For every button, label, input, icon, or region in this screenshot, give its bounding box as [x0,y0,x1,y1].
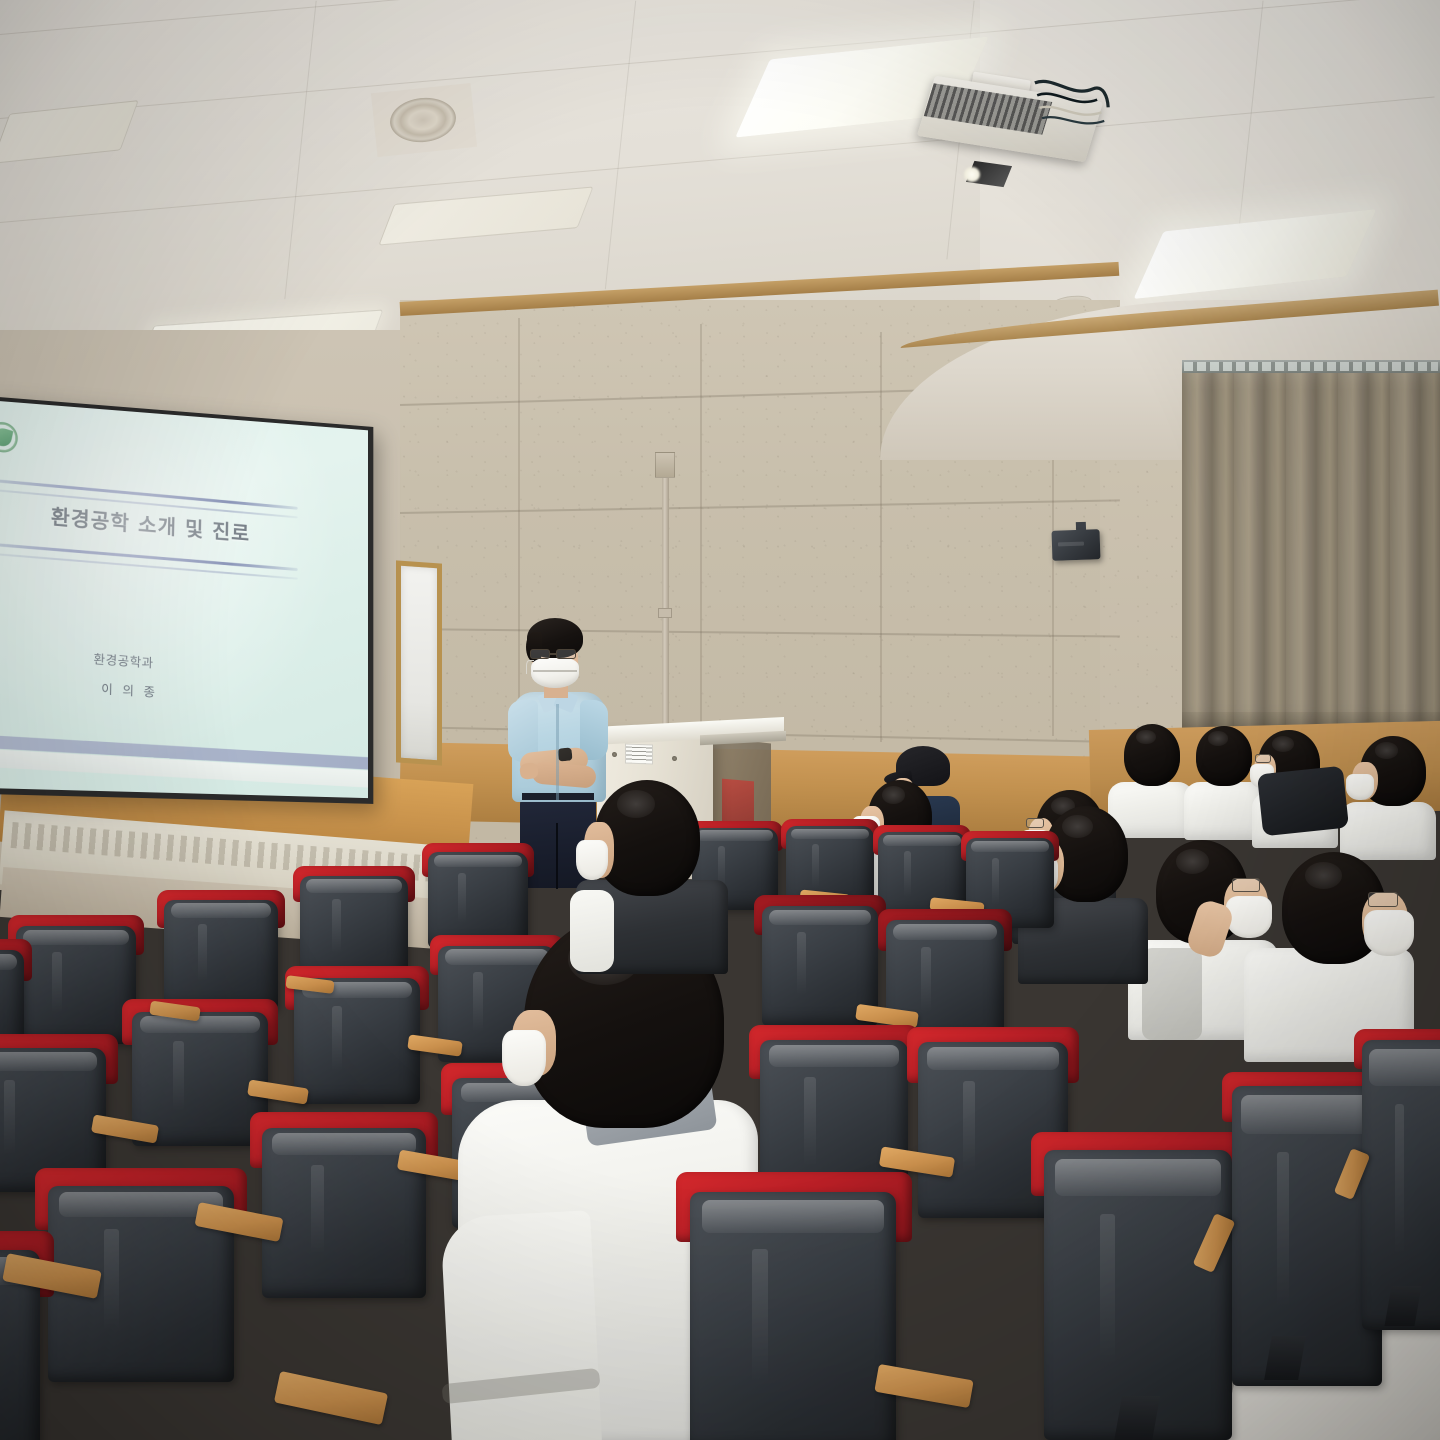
auditorium-photo: 학교 U UNIVERSITY 환경공학 소개 및 진로 환경공학과 이 의 종 [0,0,1440,1440]
podium-label-text [626,747,653,764]
projector-lens-glow [964,167,980,182]
conduit-junction-box [655,452,675,478]
student-sleeve [440,1210,602,1440]
auditorium-seat[interactable] [690,1192,896,1440]
slide-department: 환경공학과 [93,649,281,680]
podium-label [625,744,653,765]
curtain-fabric[interactable] [1182,372,1440,750]
face-mask-strap [526,660,534,674]
wall-panel-seam [700,324,702,742]
eyeglasses-icon [1255,754,1271,763]
podium-screw [672,756,677,761]
face-mask-icon [502,1030,546,1086]
lecturer-wristwatch [557,747,572,761]
wall-panel-seam [880,332,882,742]
student-front-left [570,780,730,970]
projector-cables [1026,73,1113,140]
face-mask-icon [576,840,608,880]
auditorium-seat[interactable] [300,876,408,980]
student-shirt-shadow [1142,948,1202,1040]
window-curtain[interactable] [1182,360,1440,750]
student-shirt-sleeve [570,890,614,972]
eyeglasses-icon [1368,892,1398,907]
auditorium-seat[interactable] [16,926,136,1044]
projection-screen-frame: 학교 U UNIVERSITY 환경공학 소개 및 진로 환경공학과 이 의 종 [0,396,373,804]
eyeglasses-icon [530,649,580,659]
eyeglass-lens-left [530,649,550,659]
face-mask-icon [531,658,579,688]
auditorium-seat[interactable] [164,900,278,1010]
backpack [1257,766,1349,837]
eyeglass-lens-right [556,649,576,659]
projection-screen[interactable]: 학교 U UNIVERSITY 환경공학 소개 및 진로 환경공학과 이 의 종 [0,400,368,798]
lecturer-shirt-placket [556,704,559,800]
student-head [1124,724,1180,786]
seat-armrest [274,1371,388,1425]
lecturer-leg-seam [556,823,558,889]
face-mask-fold [533,670,577,672]
eyeglass-bridge [550,653,556,655]
slide-title: 환경공학 소개 및 진로 [51,501,324,554]
curtain-hooks [1184,362,1438,371]
slide-logo: 학교 U UNIVERSITY [0,414,68,478]
whiteboard[interactable] [396,560,442,765]
conduit-clamp [658,608,672,618]
face-mask-icon [1364,910,1414,956]
student-far-right-edge [1340,736,1436,860]
seat-support-leg [1114,1396,1160,1440]
auditorium-seat[interactable] [1232,1086,1382,1386]
face-mask-icon [1346,774,1374,800]
slide-presenter-name: 이 의 종 [101,679,289,709]
student-head [1196,726,1252,786]
